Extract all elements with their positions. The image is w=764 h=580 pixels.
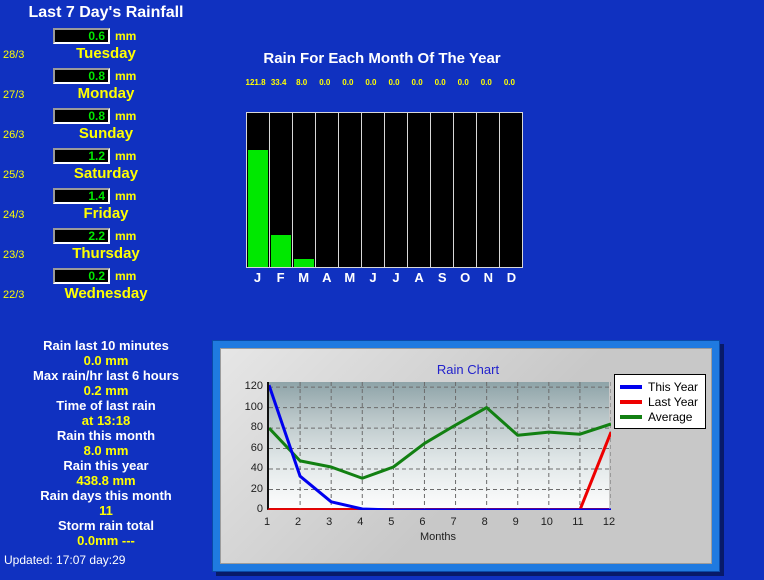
monthly-value-label: 0.0	[452, 78, 475, 87]
monthly-value-label: 0.0	[406, 78, 429, 87]
day-date-label: 22/3	[3, 289, 24, 301]
day-rain-value: 1.2	[53, 148, 110, 164]
stat-label: Rain this year	[0, 458, 212, 473]
series-line	[269, 385, 611, 510]
legend-label: Average	[648, 410, 692, 424]
monthly-axis-label: O	[454, 270, 477, 285]
monthly-axis-label: M	[292, 270, 315, 285]
monthly-axis-label: D	[500, 270, 523, 285]
monthly-value-label: 0.0	[359, 78, 382, 87]
day-date-label: 23/3	[3, 249, 24, 261]
rainfall-dashboard: Last 7 Day's Rainfall 0.6mmTuesday28/30.…	[0, 0, 764, 580]
monthly-value-label: 0.0	[313, 78, 336, 87]
day-rain-value: 0.8	[53, 108, 110, 124]
monthly-value-label: 8.0	[290, 78, 313, 87]
stat-value: 11	[0, 503, 212, 518]
monthly-value-labels: 121.833.48.00.00.00.00.00.00.00.00.00.0	[244, 78, 521, 87]
stat-label: Rain last 10 minutes	[0, 338, 212, 353]
y-tick-label: 40	[221, 462, 263, 474]
day-rain-unit: mm	[115, 69, 136, 83]
x-tick-label: 6	[409, 516, 435, 528]
stat-label: Max rain/hr last 6 hours	[0, 368, 212, 383]
page-title: Last 7 Day's Rainfall	[0, 4, 212, 22]
legend-swatch	[620, 400, 642, 404]
y-tick-label: 0	[221, 503, 263, 515]
monthly-value-label: 0.0	[382, 78, 405, 87]
monthly-bar	[294, 259, 313, 267]
monthly-bar-cell	[454, 113, 477, 267]
day-rain-value: 0.2	[53, 268, 110, 284]
day-row: 0.8mmSunday26/3	[0, 108, 212, 148]
legend-item: This Year	[620, 379, 698, 394]
monthly-value-label: 33.4	[267, 78, 290, 87]
stat-value: 0.2 mm	[0, 383, 212, 398]
monthly-axis-label: S	[431, 270, 454, 285]
monthly-bar-cell	[339, 113, 362, 267]
rain-statistics-list: Rain last 10 minutes0.0 mmMax rain/hr la…	[0, 338, 212, 548]
y-tick-label: 120	[221, 380, 263, 392]
day-rain-value: 2.2	[53, 228, 110, 244]
legend-label: Last Year	[648, 395, 698, 409]
x-tick-label: 12	[596, 516, 622, 528]
monthly-rain-chart: Rain For Each Month Of The Year 121.833.…	[232, 50, 532, 67]
x-tick-label: 11	[565, 516, 591, 528]
day-rain-unit: mm	[115, 269, 136, 283]
monthly-axis-label: A	[408, 270, 431, 285]
day-rain-value: 0.8	[53, 68, 110, 84]
day-rain-unit: mm	[115, 189, 136, 203]
x-tick-label: 2	[285, 516, 311, 528]
day-rain-unit: mm	[115, 229, 136, 243]
monthly-bar	[271, 235, 290, 267]
x-tick-label: 9	[503, 516, 529, 528]
monthly-bar-cell	[408, 113, 431, 267]
legend-swatch	[620, 415, 642, 419]
rain-chart-plot-area	[267, 382, 609, 510]
monthly-bar-cell	[293, 113, 316, 267]
day-row: 1.4mmFriday24/3	[0, 188, 212, 228]
day-name-label: Thursday	[0, 245, 212, 262]
monthly-bar-cell	[385, 113, 408, 267]
legend-item: Last Year	[620, 394, 698, 409]
day-name-label: Wednesday	[0, 285, 212, 302]
stat-label: Storm rain total	[0, 518, 212, 533]
day-date-label: 24/3	[3, 209, 24, 221]
day-rain-unit: mm	[115, 109, 136, 123]
day-date-label: 28/3	[3, 49, 24, 61]
monthly-bar-cell	[500, 113, 522, 267]
x-tick-label: 3	[316, 516, 342, 528]
monthly-bar-cell	[247, 113, 270, 267]
legend-label: This Year	[648, 380, 698, 394]
day-name-label: Tuesday	[0, 45, 212, 62]
monthly-value-label: 0.0	[429, 78, 452, 87]
stat-value: 0.0mm ---	[0, 533, 212, 548]
day-row: 0.2mmWednesday22/3	[0, 268, 212, 308]
day-rain-value: 0.6	[53, 28, 110, 44]
stat-value: 0.0 mm	[0, 353, 212, 368]
day-row: 1.2mmSaturday25/3	[0, 148, 212, 188]
updated-timestamp: Updated: 17:07 day:29	[4, 553, 125, 567]
rain-chart-x-axis: 123456789101112	[267, 516, 609, 532]
monthly-value-label: 0.0	[475, 78, 498, 87]
stat-label: Time of last rain	[0, 398, 212, 413]
day-date-label: 27/3	[3, 89, 24, 101]
monthly-bar-cell	[431, 113, 454, 267]
monthly-bar-cell	[362, 113, 385, 267]
monthly-bar-cell	[477, 113, 500, 267]
rain-chart-plot-wrap: 020406080100120 123456789101112	[267, 382, 609, 510]
monthly-bar	[248, 150, 267, 267]
monthly-bar-cell	[316, 113, 339, 267]
y-tick-label: 60	[221, 442, 263, 454]
x-tick-label: 4	[347, 516, 373, 528]
rain-chart-x-axis-label: Months	[267, 531, 609, 543]
y-tick-label: 20	[221, 483, 263, 495]
day-row: 2.2mmThursday23/3	[0, 228, 212, 268]
day-date-label: 26/3	[3, 129, 24, 141]
series-line	[269, 432, 611, 510]
stat-value: 8.0 mm	[0, 443, 212, 458]
legend-swatch	[620, 385, 642, 389]
last-7-days-panel: Last 7 Day's Rainfall 0.6mmTuesday28/30.…	[0, 0, 212, 580]
monthly-axis-label: A	[315, 270, 338, 285]
monthly-axis-label: N	[477, 270, 500, 285]
day-row: 0.8mmMonday27/3	[0, 68, 212, 108]
rain-chart-window: Rain Chart 020406080100120 1234567891011…	[212, 340, 720, 572]
monthly-bar-plot	[246, 112, 523, 268]
legend-item: Average	[620, 409, 698, 424]
rain-chart-legend: This YearLast YearAverage	[614, 374, 706, 429]
monthly-axis-label: J	[384, 270, 407, 285]
monthly-axis-label: M	[338, 270, 361, 285]
x-tick-label: 10	[534, 516, 560, 528]
monthly-axis-label: J	[246, 270, 269, 285]
monthly-bar-cell	[270, 113, 293, 267]
monthly-value-label: 121.8	[244, 78, 267, 87]
monthly-axis-label: F	[269, 270, 292, 285]
stat-label: Rain days this month	[0, 488, 212, 503]
day-name-label: Monday	[0, 85, 212, 102]
series-line	[269, 408, 611, 479]
day-rain-value: 1.4	[53, 188, 110, 204]
day-name-label: Sunday	[0, 125, 212, 142]
day-name-label: Saturday	[0, 165, 212, 182]
monthly-chart-title: Rain For Each Month Of The Year	[232, 50, 532, 67]
day-date-label: 25/3	[3, 169, 24, 181]
rain-chart-series-svg	[269, 382, 611, 510]
stat-value: at 13:18	[0, 413, 212, 428]
day-rain-unit: mm	[115, 149, 136, 163]
day-rain-unit: mm	[115, 29, 136, 43]
x-tick-label: 5	[378, 516, 404, 528]
x-tick-label: 7	[441, 516, 467, 528]
stat-label: Rain this month	[0, 428, 212, 443]
monthly-axis-labels: JFMAMJJASOND	[246, 270, 523, 285]
day-row: 0.6mmTuesday28/3	[0, 28, 212, 68]
y-tick-label: 80	[221, 421, 263, 433]
day-name-label: Friday	[0, 205, 212, 222]
monthly-value-label: 0.0	[498, 78, 521, 87]
monthly-value-label: 0.0	[336, 78, 359, 87]
x-tick-label: 8	[472, 516, 498, 528]
y-tick-label: 100	[221, 401, 263, 413]
rain-chart-surface: Rain Chart 020406080100120 1234567891011…	[220, 348, 712, 564]
x-tick-label: 1	[254, 516, 280, 528]
stat-value: 438.8 mm	[0, 473, 212, 488]
monthly-axis-label: J	[361, 270, 384, 285]
